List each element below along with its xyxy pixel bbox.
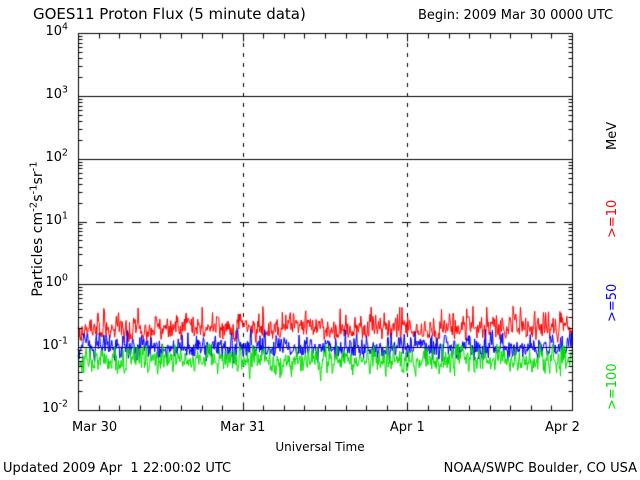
legend-unit-label: MeV [605, 122, 620, 150]
begin-time-label: Begin: 2009 Mar 30 0000 UTC [418, 9, 613, 22]
y-tick-label: 103 [46, 87, 69, 102]
y-tick-label: 101 [46, 213, 69, 228]
proton-flux-plot [0, 0, 640, 480]
legend-ge50-label: >=50 [605, 284, 620, 322]
x-tick-label: Apr 1 [390, 420, 425, 435]
y-tick-label: 104 [46, 24, 69, 39]
y-axis-tick-labels: 10-210-1100101102103104 [0, 0, 74, 480]
x-tick-label: Apr 2 [545, 420, 580, 435]
x-axis-tick-labels: Mar 30Mar 31Apr 1Apr 2 [0, 418, 640, 440]
legend-ge100-label: >=100 [605, 363, 620, 410]
x-tick-label: Mar 31 [220, 420, 265, 435]
updated-timestamp: Updated 2009 Apr 1 22:00:02 UTC [3, 462, 231, 475]
y-tick-label: 102 [46, 150, 69, 165]
y-tick-label: 10-1 [42, 338, 68, 353]
x-tick-label: Mar 30 [72, 420, 117, 435]
source-credit: NOAA/SWPC Boulder, CO USA [444, 462, 637, 475]
y-tick-label: 100 [46, 275, 69, 290]
y-tick-label: 10-2 [42, 401, 68, 416]
x-axis-title: Universal Time [0, 441, 640, 453]
legend-ge10-label: >=10 [605, 200, 620, 238]
